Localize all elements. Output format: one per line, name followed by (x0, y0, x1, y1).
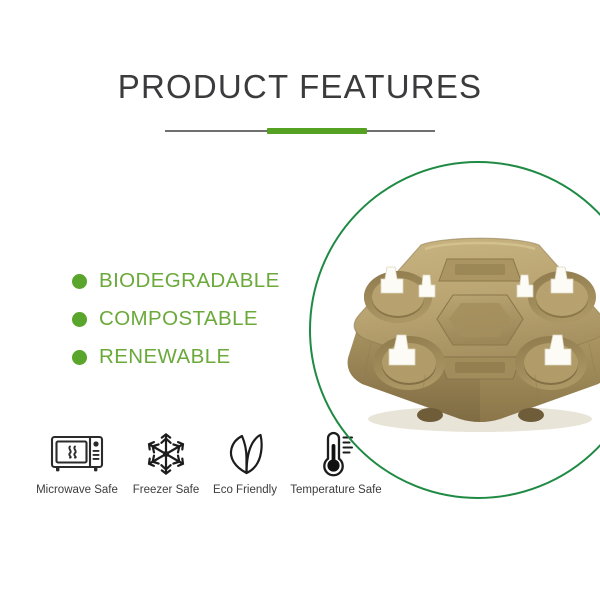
badge-microwave-safe: Microwave Safe (28, 430, 126, 496)
feature-label: RENEWABLE (99, 345, 231, 369)
infographic-canvas: PRODUCT FEATURES BIODEGRADABLE COMPOSTAB… (0, 0, 600, 600)
badge-eco-friendly: Eco Friendly (206, 430, 284, 496)
product-showcase (309, 161, 600, 503)
feature-list: BIODEGRADABLE COMPOSTABLE RENEWABLE (72, 264, 312, 378)
list-item: BIODEGRADABLE (72, 264, 312, 298)
title-divider (165, 128, 435, 134)
feature-label: BIODEGRADABLE (99, 269, 280, 293)
divider-accent-segment (267, 128, 367, 134)
snowflake-icon (143, 430, 189, 478)
badge-label: Freezer Safe (133, 484, 199, 496)
bullet-dot-icon (72, 274, 87, 289)
feature-label: COMPOSTABLE (99, 307, 258, 331)
bullet-dot-icon (72, 350, 87, 365)
badge-label: Eco Friendly (213, 484, 277, 496)
list-item: RENEWABLE (72, 340, 312, 374)
product-image-pulp-cup-carrier (335, 223, 600, 443)
page-title: PRODUCT FEATURES (0, 68, 600, 106)
badge-label: Microwave Safe (36, 484, 118, 496)
leaf-icon (223, 430, 267, 478)
badge-freezer-safe: Freezer Safe (126, 430, 206, 496)
microwave-icon (49, 430, 105, 478)
list-item: COMPOSTABLE (72, 302, 312, 336)
bullet-dot-icon (72, 312, 87, 327)
